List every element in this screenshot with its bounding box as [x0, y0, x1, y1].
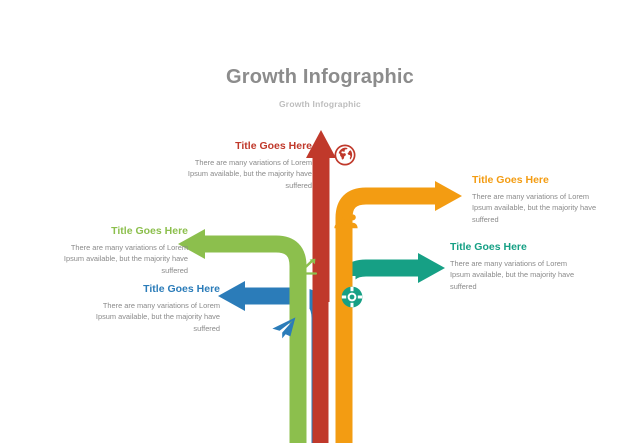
branch-title-green: Title Goes Here: [58, 225, 188, 238]
branch-title-orange: Title Goes Here: [472, 174, 602, 187]
lifebuoy-icon: [341, 286, 363, 313]
branch-path-teal[interactable]: [344, 253, 445, 443]
infographic-canvas: Growth Infographic Growth Infographic: [0, 0, 640, 443]
branch-title-blue: Title Goes Here: [90, 283, 220, 296]
branch-body-blue: There are many variations of Lorem Ipsum…: [90, 300, 220, 335]
branch-text-green: Title Goes Here There are many variation…: [58, 225, 188, 277]
people-group-icon: [334, 211, 358, 238]
branch-body-red: There are many variations of Lorem Ipsum…: [182, 157, 312, 192]
branch-body-teal: There are many variations of Lorem Ipsum…: [450, 258, 580, 293]
globe-icon: [334, 144, 356, 171]
branch-body-orange: There are many variations of Lorem Ipsum…: [472, 191, 602, 226]
branch-text-red: Title Goes Here There are many variation…: [182, 140, 312, 192]
branch-text-blue: Title Goes Here There are many variation…: [90, 283, 220, 335]
branch-body-green: There are many variations of Lorem Ipsum…: [58, 242, 188, 277]
branch-text-teal: Title Goes Here There are many variation…: [450, 241, 580, 293]
growth-chart-icon: [295, 256, 319, 283]
paper-plane-icon: [271, 316, 297, 345]
branch-title-teal: Title Goes Here: [450, 241, 580, 254]
branch-title-red: Title Goes Here: [182, 140, 312, 153]
branch-text-orange: Title Goes Here There are many variation…: [472, 174, 602, 226]
